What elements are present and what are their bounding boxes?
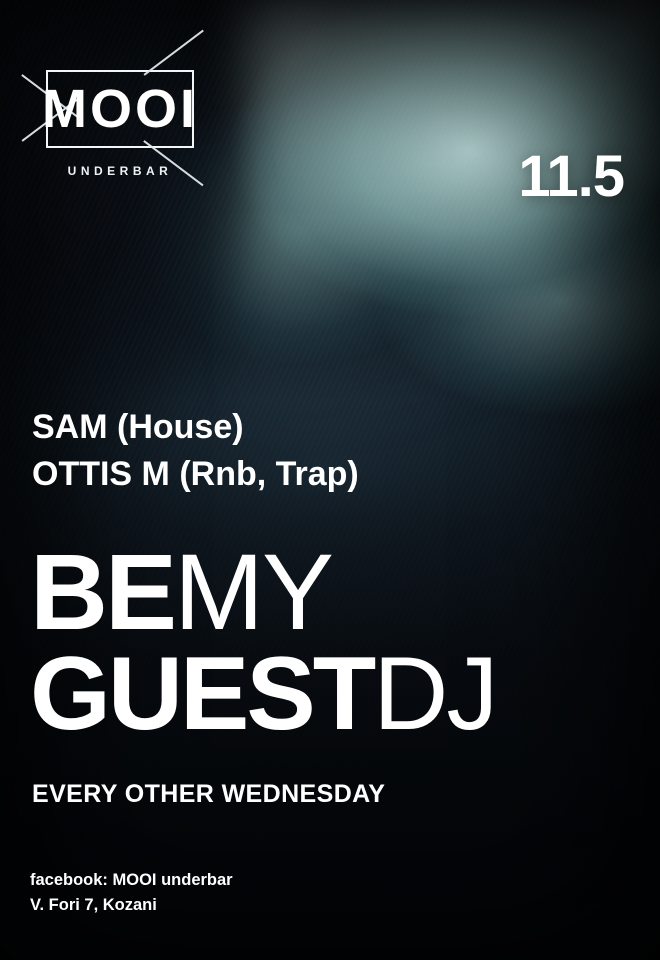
logo-wordmark: MOOI: [40, 80, 200, 138]
lineup-list: SAM (House) OTTIS M (Rnb, Trap): [32, 404, 359, 498]
logo-frame-icon: MOOI: [40, 62, 200, 154]
recurrence-text: EVERY OTHER WEDNESDAY: [32, 780, 385, 809]
footer-address: V. Fori 7, Kozani: [30, 893, 233, 918]
headline-my: MY: [174, 531, 332, 652]
logo-frame-top-edge: [46, 70, 194, 72]
headline: BEMY GUESTDJ: [30, 538, 496, 746]
event-date: 11.5: [518, 148, 624, 206]
headline-row-two: GUESTDJ: [30, 642, 496, 746]
footer-facebook: facebook: MOOI underbar: [30, 868, 233, 893]
event-poster: MOOI UNDERBAR 11.5 SAM (House) OTTIS M (…: [0, 0, 660, 960]
footer-contact: facebook: MOOI underbar V. Fori 7, Kozan…: [30, 868, 233, 918]
lineup-item: SAM (House): [32, 404, 359, 451]
logo-frame-bottom-edge: [46, 146, 194, 148]
headline-guest: GUEST: [30, 636, 373, 752]
lineup-item: OTTIS M (Rnb, Trap): [32, 451, 359, 498]
headline-row-one: BEMY: [30, 538, 496, 646]
mooi-logo: MOOI UNDERBAR: [40, 62, 220, 178]
headline-dj: DJ: [373, 636, 496, 752]
headline-be: BE: [30, 531, 174, 652]
